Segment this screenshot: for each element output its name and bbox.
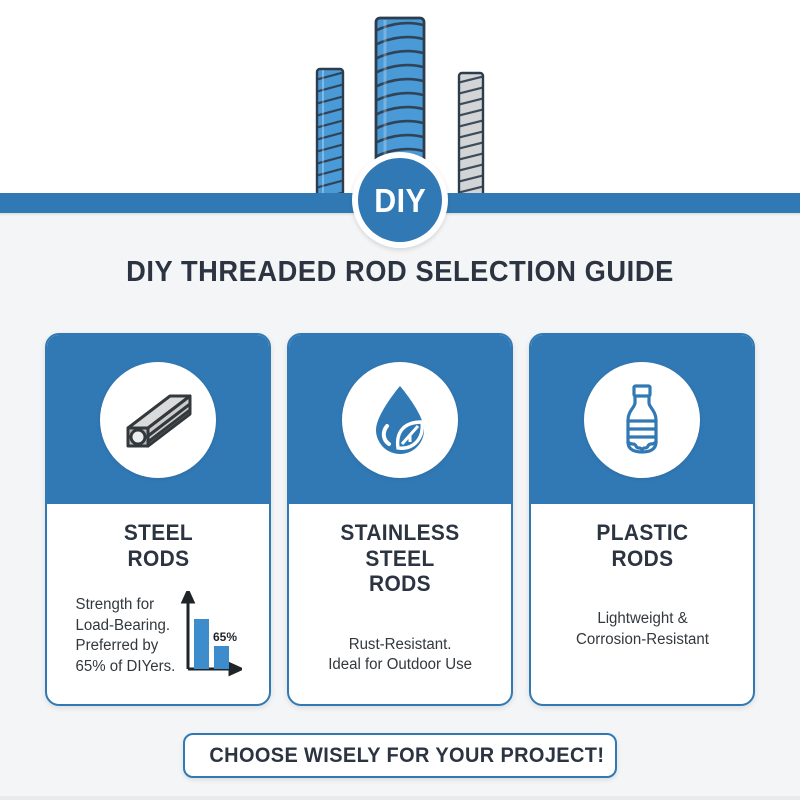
icon-circle-plastic: [584, 362, 700, 478]
card-title-line1: STAINLESS STEEL: [304, 520, 496, 571]
diy-badge-inner: DIY: [358, 158, 442, 242]
icon-circle-stainless: [342, 362, 458, 478]
card-header-stainless: [289, 335, 511, 504]
card-stainless-steel-rods[interactable]: STAINLESS STEEL RODS Rust-Resistant. Ide…: [287, 333, 513, 706]
card-title-steel: STEEL RODS: [123, 520, 192, 571]
bar-chart-svg: 65%: [180, 591, 242, 677]
card-steel-rods[interactable]: STEEL RODS Strength for Load-Bearing. Pr…: [45, 333, 271, 706]
desc-line-1: Strength for: [75, 595, 175, 615]
card-header-plastic: [531, 335, 753, 504]
footer-banner[interactable]: CHOOSE WISELY FOR YOUR PROJECT!: [183, 733, 617, 778]
card-title-plastic: PLASTIC RODS: [596, 520, 688, 571]
card-title-line2: RODS: [123, 546, 192, 572]
card-header-steel: [47, 335, 269, 504]
desc-line-3: Preferred by: [75, 636, 175, 656]
card-desc-plastic: Lightweight & Corrosion-Resistant: [576, 609, 709, 651]
steel-beam-icon: [116, 378, 200, 462]
infographic-canvas: DIY DIY THREADED ROD SELECTION GUIDE: [0, 0, 800, 800]
card-title-line2: RODS: [596, 546, 688, 572]
rod-left-icon: [313, 66, 347, 200]
card-desc-steel: Strength for Load-Bearing. Preferred by …: [75, 595, 175, 677]
footer-label: CHOOSE WISELY FOR YOUR PROJECT!: [209, 744, 604, 768]
card-title-line1: STEEL: [123, 520, 192, 546]
desc-line-4: 65% of DIYers.: [75, 657, 175, 677]
water-drop-leaf-icon: [360, 380, 440, 460]
card-body-plastic: PLASTIC RODS Lightweight & Corrosion-Res…: [531, 504, 753, 704]
card-body-stainless: STAINLESS STEEL RODS Rust-Resistant. Ide…: [289, 504, 511, 704]
card-title-line1: PLASTIC: [596, 520, 688, 546]
plastic-bottle-icon: [602, 380, 682, 460]
desc-line-2: Corrosion-Resistant: [576, 630, 709, 651]
desc-line-1: Lightweight &: [576, 609, 709, 630]
card-plastic-rods[interactable]: PLASTIC RODS Lightweight & Corrosion-Res…: [529, 333, 755, 706]
desc-line-1: Rust-Resistant.: [328, 635, 472, 656]
card-desc-stainless: Rust-Resistant. Ideal for Outdoor Use: [328, 635, 472, 677]
card-title-line2: RODS: [304, 571, 496, 597]
icon-circle-steel: [100, 362, 216, 478]
bar-0: [194, 619, 209, 669]
steel-bar-chart: 65%: [180, 591, 242, 677]
card-title-stainless: STAINLESS STEEL RODS: [304, 520, 496, 597]
desc-line-2: Load-Bearing.: [75, 616, 175, 636]
bar-1: [214, 646, 229, 669]
diy-badge-label: DIY: [374, 184, 426, 217]
bottom-edge-strip: [0, 796, 800, 800]
diy-badge: DIY: [352, 152, 448, 248]
card-body-steel: STEEL RODS Strength for Load-Bearing. Pr…: [47, 504, 269, 704]
rod-right-icon: [455, 70, 487, 200]
steel-stat-row: Strength for Load-Bearing. Preferred by …: [57, 591, 259, 677]
page-title: DIY THREADED ROD SELECTION GUIDE: [24, 256, 776, 289]
cards-row: STEEL RODS Strength for Load-Bearing. Pr…: [45, 333, 755, 703]
desc-line-2: Ideal for Outdoor Use: [328, 655, 472, 676]
bar-chart-label: 65%: [213, 630, 237, 644]
